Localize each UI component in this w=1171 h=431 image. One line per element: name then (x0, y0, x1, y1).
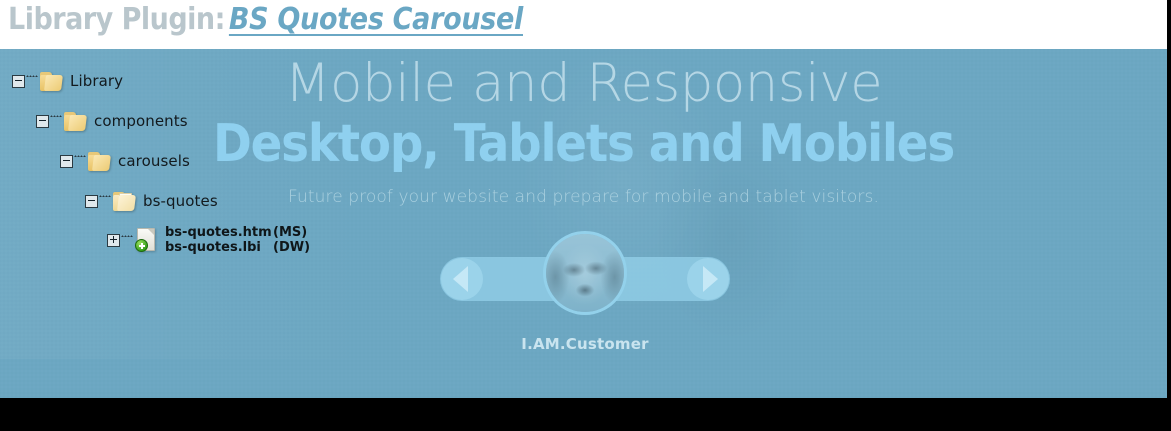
minus-box-icon[interactable] (85, 195, 98, 208)
carousel-prev-button[interactable] (441, 258, 483, 300)
tree-node-library[interactable]: Library (0, 61, 360, 101)
page-title: BS Quotes Carousel (225, 2, 523, 37)
page-header: Library Plugin:BS Quotes Carousel (0, 0, 1167, 49)
tree-connector-icon (50, 115, 62, 117)
tree-connector-icon (121, 235, 133, 237)
preview-stage: Mobile and Responsive Desktop, Tablets a… (0, 49, 1167, 398)
file-tree: Library components carousels (0, 49, 360, 259)
tree-node-label: carousels (118, 152, 190, 170)
folder-icon (88, 152, 110, 171)
tree-node-carousels[interactable]: carousels (0, 141, 360, 181)
file-row[interactable]: bs-quotes.htm (MS) (165, 225, 310, 240)
file-add-icon (135, 228, 157, 252)
carousel-bar (440, 257, 730, 301)
folder-icon (64, 112, 86, 131)
tree-connector-icon (26, 75, 38, 77)
file-tag: (DW) (273, 240, 310, 255)
app-screenshot: Library Plugin:BS Quotes Carousel Mobile… (0, 0, 1171, 431)
file-name: bs-quotes.htm (165, 225, 273, 240)
tree-node-bs-quotes[interactable]: bs-quotes (0, 181, 360, 221)
footer-bar (0, 398, 1171, 431)
carousel-next-button[interactable] (687, 258, 729, 300)
quotes-carousel: I.AM.Customer (440, 257, 730, 353)
minus-box-icon[interactable] (12, 75, 25, 88)
tree-node-label: bs-quotes (143, 192, 218, 210)
chevron-left-icon (453, 266, 468, 292)
minus-box-icon[interactable] (60, 155, 73, 168)
tree-node-files[interactable]: bs-quotes.htm (MS) bs-quotes.lbi (DW) (0, 221, 360, 259)
plus-box-icon[interactable] (107, 234, 120, 247)
tree-node-label: Library (70, 72, 123, 90)
tree-connector-icon (99, 195, 111, 197)
avatar[interactable] (543, 231, 627, 315)
file-name-stack: bs-quotes.htm (MS) bs-quotes.lbi (DW) (165, 225, 310, 255)
header-inner: Library Plugin:BS Quotes Carousel (8, 2, 523, 37)
folder-open-icon (113, 192, 135, 211)
file-tag: (MS) (273, 225, 307, 240)
carousel-caption: I.AM.Customer (440, 335, 730, 353)
tree-connector-icon (74, 155, 86, 157)
tree-node-label: components (94, 112, 188, 130)
chevron-right-icon (703, 266, 718, 292)
file-row[interactable]: bs-quotes.lbi (DW) (165, 240, 310, 255)
file-name: bs-quotes.lbi (165, 240, 273, 255)
header-label: Library Plugin: (8, 2, 225, 37)
tree-node-components[interactable]: components (0, 101, 360, 141)
minus-box-icon[interactable] (36, 115, 49, 128)
folder-icon (40, 72, 62, 91)
avatar-photo-icon (546, 234, 624, 312)
right-edge-border (1167, 0, 1171, 398)
